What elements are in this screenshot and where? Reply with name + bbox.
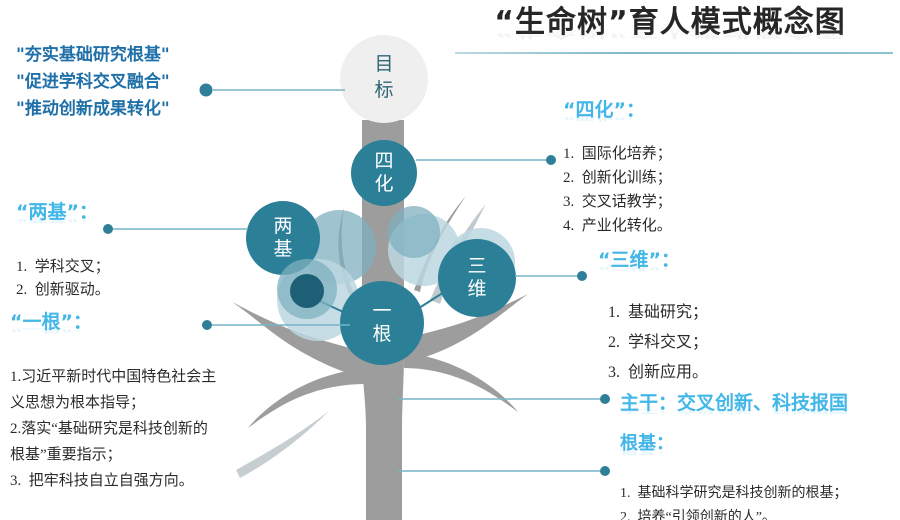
callout-liangji: “两基”： “两基”： 1. 学科交叉； 2. 创新驱动。 <box>16 200 226 302</box>
svg-text:四: 四 <box>374 151 393 172</box>
svg-text:目: 目 <box>374 54 393 75</box>
connector-dot-slogans <box>200 84 213 97</box>
callout-zhugan-heading-reflection: 主干：交叉创新、科技报国 <box>620 403 900 415</box>
callout-sanwei-item: 1. 基础研究； <box>608 298 888 328</box>
callout-yigen-item: 义思想为根本指导； <box>10 390 280 416</box>
callout-genji-heading-reflection: 根基： <box>620 444 900 456</box>
tree-node-sihua[interactable] <box>351 140 417 206</box>
canopy-blob-core <box>290 274 324 308</box>
callout-sihua-item: 1. 国际化培养； <box>563 142 863 166</box>
callout-yigen-heading-reflection: “一根”： <box>10 322 280 334</box>
callout-sihua-heading-reflection: “四化”： <box>563 110 863 122</box>
callout-liangji-item: 2. 创新驱动。 <box>16 279 226 302</box>
connector-dot-sanwei <box>577 271 587 281</box>
tree-node-yigen[interactable] <box>340 281 424 365</box>
connector-dot-zhugan <box>600 394 610 404</box>
callout-genji-item: 1. 基础科学研究是科技创新的根基； <box>620 482 900 506</box>
callout-genji-item: 2. 培养“引领创新的人”。 <box>620 506 900 520</box>
callout-sihua-item: 3. 交叉话教学； <box>563 190 863 214</box>
svg-text:三: 三 <box>467 256 486 277</box>
callout-yigen-item: 1.习近平新时代中国特色社会主 <box>10 364 280 390</box>
callout-sihua-item: 4. 产业化转化。 <box>563 214 863 238</box>
svg-text:根: 根 <box>372 323 391 345</box>
callout-sihua: “四化”： “四化”： 1. 国际化培养； 2. 创新化训练； 3. 交叉话教学… <box>563 98 863 238</box>
slogan-item-1: "夯实基础研究根基" <box>16 42 170 69</box>
svg-text:维: 维 <box>467 278 486 300</box>
connector-dot-genji <box>600 466 610 476</box>
callout-yigen: “一根”： “一根”： 1.习近平新时代中国特色社会主 义思想为根本指导； 2.… <box>10 310 280 494</box>
concept-diagram-canvas: 目 标 四 化 两 基 三 维 一 根 <box>0 0 900 520</box>
callout-liangji-item: 1. 学科交叉； <box>16 256 226 279</box>
slogan-item-3: "推动创新成果转化" <box>16 96 170 123</box>
svg-text:基: 基 <box>273 238 292 260</box>
callout-sanwei-item: 3. 创新应用。 <box>608 358 888 388</box>
callout-yigen-item: 2.落实“基础研究是科技创新的 <box>10 416 280 442</box>
svg-text:一: 一 <box>372 301 391 322</box>
callout-sanwei: “三维”： “三维”： 1. 基础研究； 2. 学科交叉； 3. 创新应用。 <box>598 248 888 388</box>
callout-sanwei-heading-reflection: “三维”： <box>598 260 888 272</box>
slogan-item-2: "促进学科交叉融合" <box>16 69 170 96</box>
svg-text:标: 标 <box>374 79 393 101</box>
callout-yigen-item: 3. 把牢科技自立自强方向。 <box>10 468 280 494</box>
page-title-reflection: “生命树”育人模式概念图 <box>455 23 885 40</box>
tree-node-sanwei[interactable] <box>438 239 516 317</box>
callout-sihua-item: 2. 创新化训练； <box>563 166 863 190</box>
callout-genji: 根基： 根基： 1. 基础科学研究是科技创新的根基； 2. 培养“引领创新的人”… <box>620 432 900 520</box>
svg-text:两: 两 <box>273 216 292 237</box>
title-underline <box>455 52 893 54</box>
callout-liangji-heading-reflection: “两基”： <box>16 212 226 224</box>
callout-sanwei-item: 2. 学科交叉； <box>608 328 888 358</box>
connector-dot-sihua <box>546 155 556 165</box>
svg-text:化: 化 <box>374 173 393 195</box>
tree-node-goal[interactable] <box>340 35 428 123</box>
slogan-list: "夯实基础研究根基" "促进学科交叉融合" "推动创新成果转化" <box>16 42 170 123</box>
callout-yigen-item: 根基”重要指示； <box>10 442 280 468</box>
